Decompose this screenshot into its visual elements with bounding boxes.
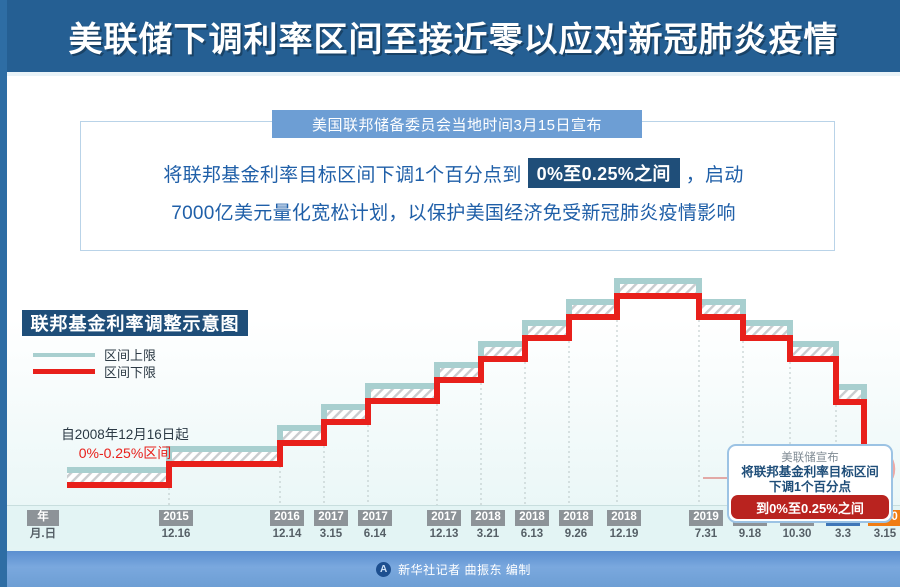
chart-title: 联邦基金利率调整示意图 <box>20 308 250 338</box>
axis-tick-year: 2018 <box>515 510 549 526</box>
axis-tick-date: 12.19 <box>594 528 654 541</box>
legend-label-lower: 区间下限 <box>104 362 156 381</box>
axis-tick-date: 3.15 <box>855 528 900 541</box>
callout-foot-badge: 到0%至0.25%之间 <box>731 495 889 519</box>
infographic-root: 美联储下调利率区间至接近零以应对新冠肺炎疫情 美国联邦储备委员会当地时间3月15… <box>0 0 900 587</box>
legend-item-lower: 区间下限 <box>33 363 156 380</box>
footer-credit: A 新华社记者 曲振东 编制 <box>376 561 531 578</box>
axis-tick-year: 2017 <box>314 510 348 526</box>
footer-bar: A 新华社记者 曲振东 编制 <box>7 551 900 587</box>
xinhua-logo-icon: A <box>376 562 391 577</box>
axis-header-label: 年月.日 <box>13 507 73 541</box>
axis-tick-year: 2018 <box>471 510 505 526</box>
callout-body-line1: 将联邦基金利率目标区间 <box>729 465 891 480</box>
axis-tick-date: 12.16 <box>146 528 206 541</box>
announcement-section: 美国联邦储备委员会当地时间3月15日宣布 将联邦基金利率目标区间下调1个百分点到… <box>7 76 900 268</box>
page-title: 美联储下调利率区间至接近零以应对新冠肺炎疫情 <box>7 0 900 72</box>
axis-tick-9: 201812.19 <box>594 507 654 541</box>
legend-swatch-upper-icon <box>33 353 95 357</box>
callout-head: 美联储宣布 <box>729 449 891 465</box>
axis-tick-year: 2018 <box>559 510 593 526</box>
fed-announcement-callout: 美联储宣布 将联邦基金利率目标区间 下调1个百分点 到0%至0.25%之间 <box>727 444 893 523</box>
header-banner: 美联储下调利率区间至接近零以应对新冠肺炎疫情 <box>7 0 900 72</box>
axis-tick-year: 2019 <box>689 510 723 526</box>
axis-tick-year: 2018 <box>607 510 641 526</box>
callout-leader-line <box>703 477 729 479</box>
chart-legend: 区间上限 区间下限 <box>33 346 156 380</box>
chart-start-note: 自2008年12月16日起 0%-0.25%区间 <box>25 426 225 463</box>
axis-tick-date: 月.日 <box>13 528 73 541</box>
callout-body-line2: 下调1个百分点 <box>729 480 891 495</box>
axis-tick-1: 201512.16 <box>146 507 206 541</box>
legend-swatch-lower-icon <box>33 369 95 374</box>
announcement-tab-label: 美国联邦储备委员会当地时间3月15日宣布 <box>272 110 642 138</box>
axis-tick-year: 2015 <box>159 510 193 526</box>
axis-tick-year: 2017 <box>358 510 392 526</box>
announcement-line-1: 将联邦基金利率目标区间下调1个百分点到 0%至0.25%之间 ，启动 <box>7 158 900 188</box>
axis-tick-year: 2017 <box>427 510 461 526</box>
chart-start-note-line1: 自2008年12月16日起 <box>25 426 225 444</box>
announcement-line1-before: 将联邦基金利率目标区间下调1个百分点到 <box>163 160 521 187</box>
chart-start-note-line2: 0%-0.25%区间 <box>25 444 225 463</box>
announcement-line-2: 7000亿美元量化宽松计划，以保护美国经济免受新冠肺炎疫情影响 <box>7 196 900 226</box>
axis-tick-date: 6.14 <box>345 528 405 541</box>
announcement-line1-after: ，启动 <box>686 160 744 187</box>
axis-tick-year: 2016 <box>270 510 304 526</box>
axis-tick-year: 年 <box>27 510 59 526</box>
axis-tick-4: 20176.14 <box>345 507 405 541</box>
legend-item-upper: 区间上限 <box>33 346 156 363</box>
rate-range-highlight: 0%至0.25%之间 <box>528 158 680 188</box>
callout-body: 将联邦基金利率目标区间 下调1个百分点 <box>729 465 891 495</box>
left-accent-rail <box>0 0 7 587</box>
footer-credit-text: 新华社记者 曲振东 编制 <box>398 561 531 578</box>
